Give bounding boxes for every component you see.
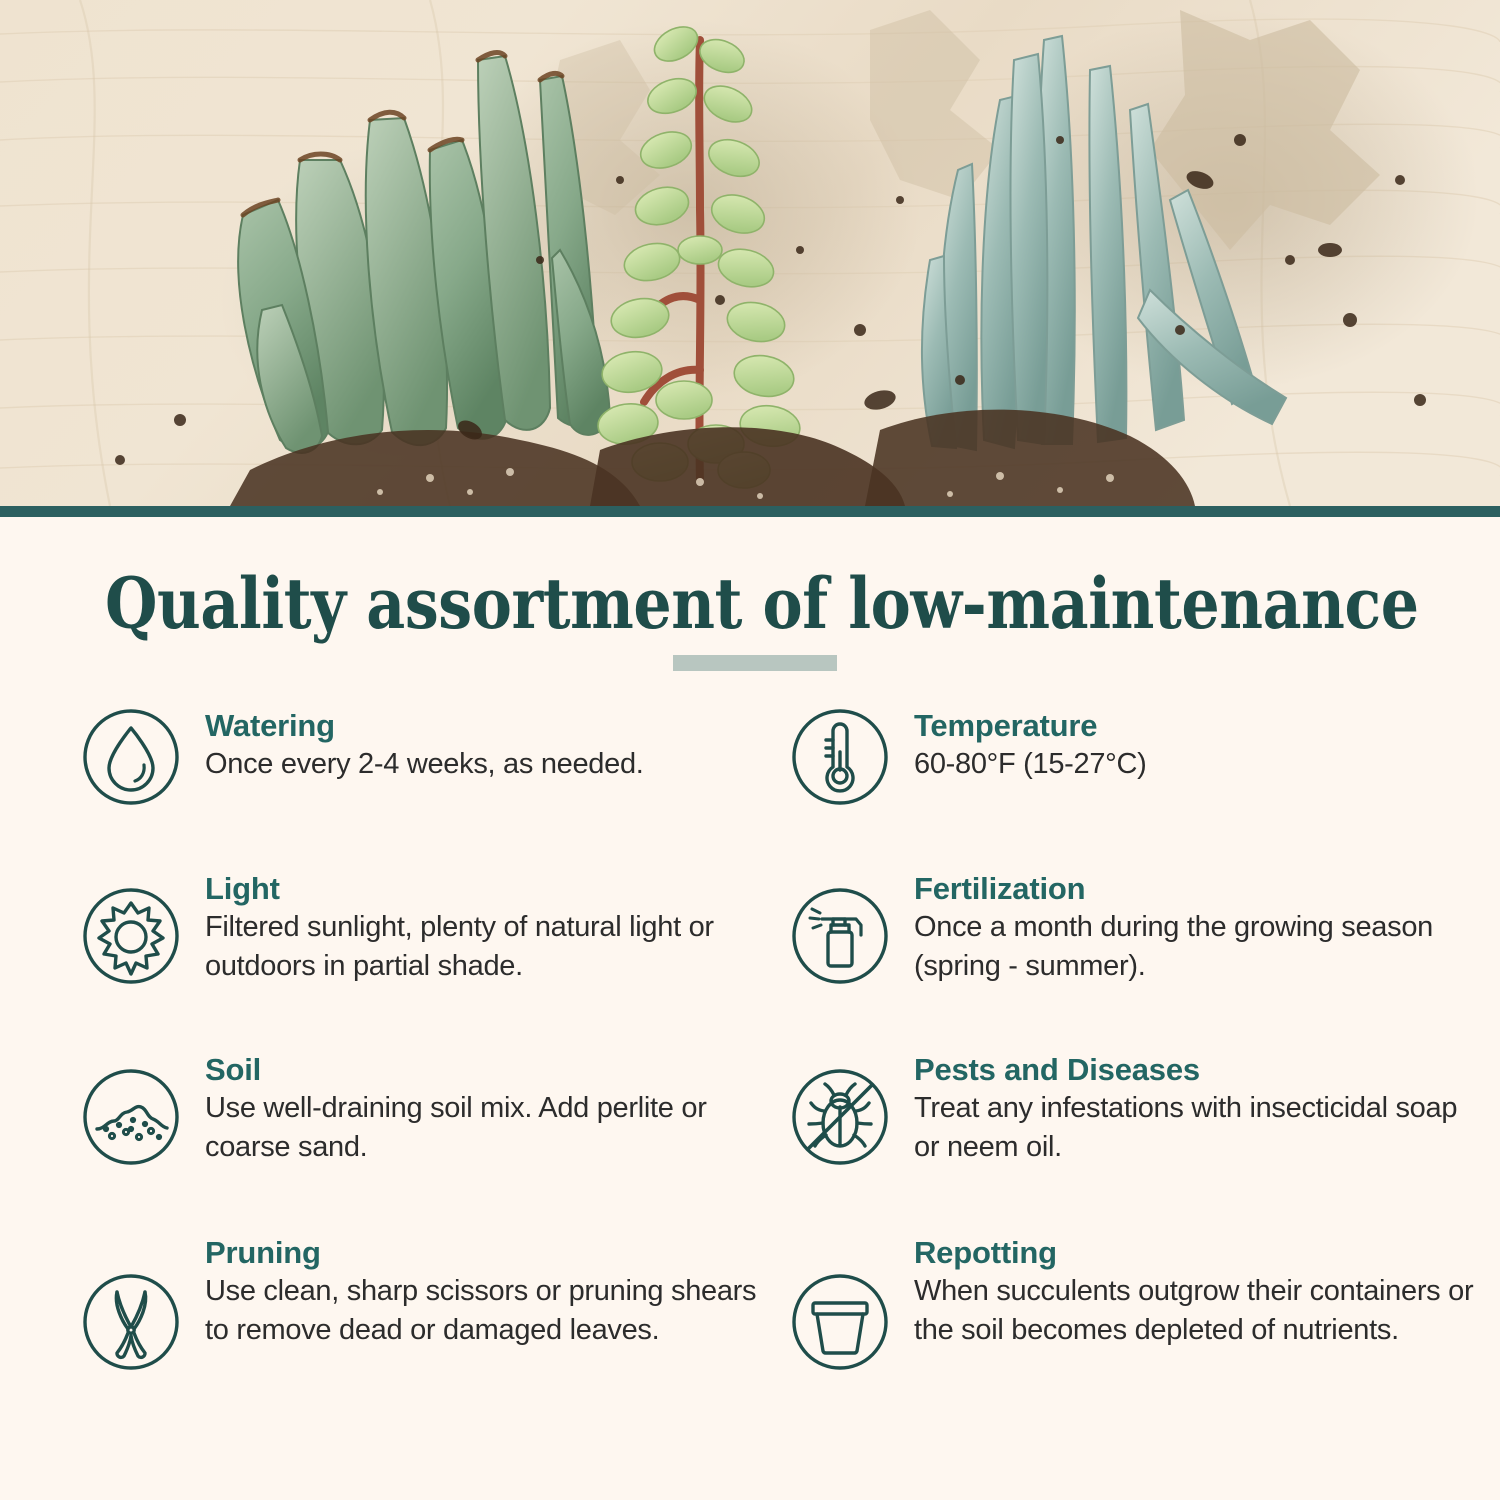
tip-body: Filtered sunlight, plenty of natural lig… (205, 908, 769, 985)
flower-pot-icon (788, 1272, 892, 1372)
tip-pests-and-diseases: Pests and Diseases Treat any infestation… (788, 1051, 1488, 1167)
tip-soil: Soil Use well-draining soil mix. Add per… (79, 1051, 769, 1167)
teal-divider-bar (0, 506, 1500, 517)
tip-text: Soil Use well-draining soil mix. Add per… (183, 1051, 769, 1167)
spray-bottle-icon (788, 886, 892, 986)
tip-title: Soil (205, 1053, 769, 1086)
tip-text: Pruning Use clean, sharp scissors or pru… (183, 1234, 769, 1350)
tip-fertilization: Fertilization Once a month during the gr… (788, 870, 1488, 986)
tip-text: Repotting When succulents outgrow their … (892, 1234, 1488, 1350)
tip-body: Use clean, sharp scissors or pruning she… (205, 1272, 769, 1349)
tip-body: 60-80°F (15-27°C) (914, 745, 1146, 784)
tip-title: Pruning (205, 1236, 769, 1269)
tip-temperature: Temperature 60-80°F (15-27°C) (788, 707, 1488, 807)
thermometer-icon (788, 707, 892, 807)
tip-body: When succulents outgrow their containers… (914, 1272, 1488, 1349)
tip-title: Light (205, 872, 769, 905)
succulents-photo (0, 0, 1500, 506)
soil-mound-icon (79, 1067, 183, 1167)
hero-photo-banner (0, 0, 1500, 506)
tip-body: Treat any infestations with insecticidal… (914, 1089, 1488, 1166)
tip-text: Light Filtered sunlight, plenty of natur… (183, 870, 769, 986)
tip-body: Once every 2-4 weeks, as needed. (205, 745, 644, 784)
tip-title: Pests and Diseases (914, 1053, 1488, 1086)
sun-icon (79, 886, 183, 986)
no-bug-icon (788, 1067, 892, 1167)
tip-title: Fertilization (914, 872, 1488, 905)
care-guide-content: Quality assortment of low-maintenance Wa… (0, 517, 1500, 1500)
water-drop-icon (79, 707, 183, 807)
page-title: Quality assortment of low-maintenance (105, 562, 1395, 645)
tip-text: Temperature 60-80°F (15-27°C) (892, 707, 1146, 784)
tip-title: Temperature (914, 709, 1146, 742)
tip-watering: Watering Once every 2-4 weeks, as needed… (79, 707, 769, 807)
tip-light: Light Filtered sunlight, plenty of natur… (79, 870, 769, 986)
title-underline-rule (673, 655, 837, 671)
tip-repotting: Repotting When succulents outgrow their … (788, 1234, 1488, 1372)
tip-text: Watering Once every 2-4 weeks, as needed… (183, 707, 644, 784)
tip-pruning: Pruning Use clean, sharp scissors or pru… (79, 1234, 769, 1372)
tip-title: Watering (205, 709, 644, 742)
tip-body: Once a month during the growing season (… (914, 908, 1488, 985)
tip-text: Fertilization Once a month during the gr… (892, 870, 1488, 986)
pruning-shears-icon (79, 1272, 183, 1372)
tip-body: Use well-draining soil mix. Add perlite … (205, 1089, 769, 1166)
tip-text: Pests and Diseases Treat any infestation… (892, 1051, 1488, 1167)
tip-title: Repotting (914, 1236, 1488, 1269)
